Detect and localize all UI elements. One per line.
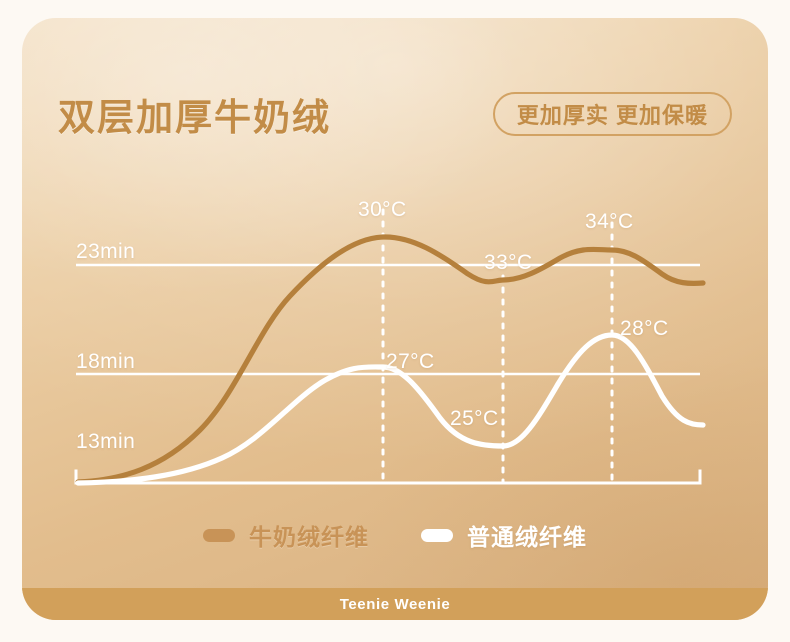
- y-axis-label-13min: 13min: [76, 430, 135, 454]
- y-axis-label-23min: 23min: [76, 240, 135, 264]
- legend-swatch-icon-milk-fleece: [203, 529, 235, 542]
- legend-item-milk-fleece: 牛奶绒纤维: [203, 518, 369, 552]
- infographic-root: 双层加厚牛奶绒 更加厚实 更加保暖 23min 18min 13min 30°C: [0, 0, 790, 642]
- legend-item-regular-fleece: 普通绒纤维: [421, 518, 587, 552]
- chart-legend: 牛奶绒纤维 普通绒纤维: [22, 518, 768, 552]
- temp-annotation-30c: 30°C: [358, 198, 407, 222]
- legend-swatch-icon-regular-fleece: [421, 529, 453, 542]
- temp-annotation-25c: 25°C: [450, 407, 499, 431]
- legend-label-milk-fleece: 牛奶绒纤维: [249, 518, 369, 552]
- legend-label-regular-fleece: 普通绒纤维: [467, 518, 587, 552]
- product-feature-card: 双层加厚牛奶绒 更加厚实 更加保暖 23min 18min 13min 30°C: [22, 18, 768, 620]
- brand-name: Teenie Weenie: [340, 596, 451, 613]
- y-axis-label-18min: 18min: [76, 350, 135, 374]
- temp-annotation-34c: 34°C: [585, 210, 634, 234]
- temp-annotation-27c: 27°C: [386, 350, 435, 374]
- brand-footer-bar: Teenie Weenie: [22, 588, 768, 620]
- temp-annotation-33c: 33°C: [484, 251, 533, 275]
- temp-annotation-28c: 28°C: [620, 317, 669, 341]
